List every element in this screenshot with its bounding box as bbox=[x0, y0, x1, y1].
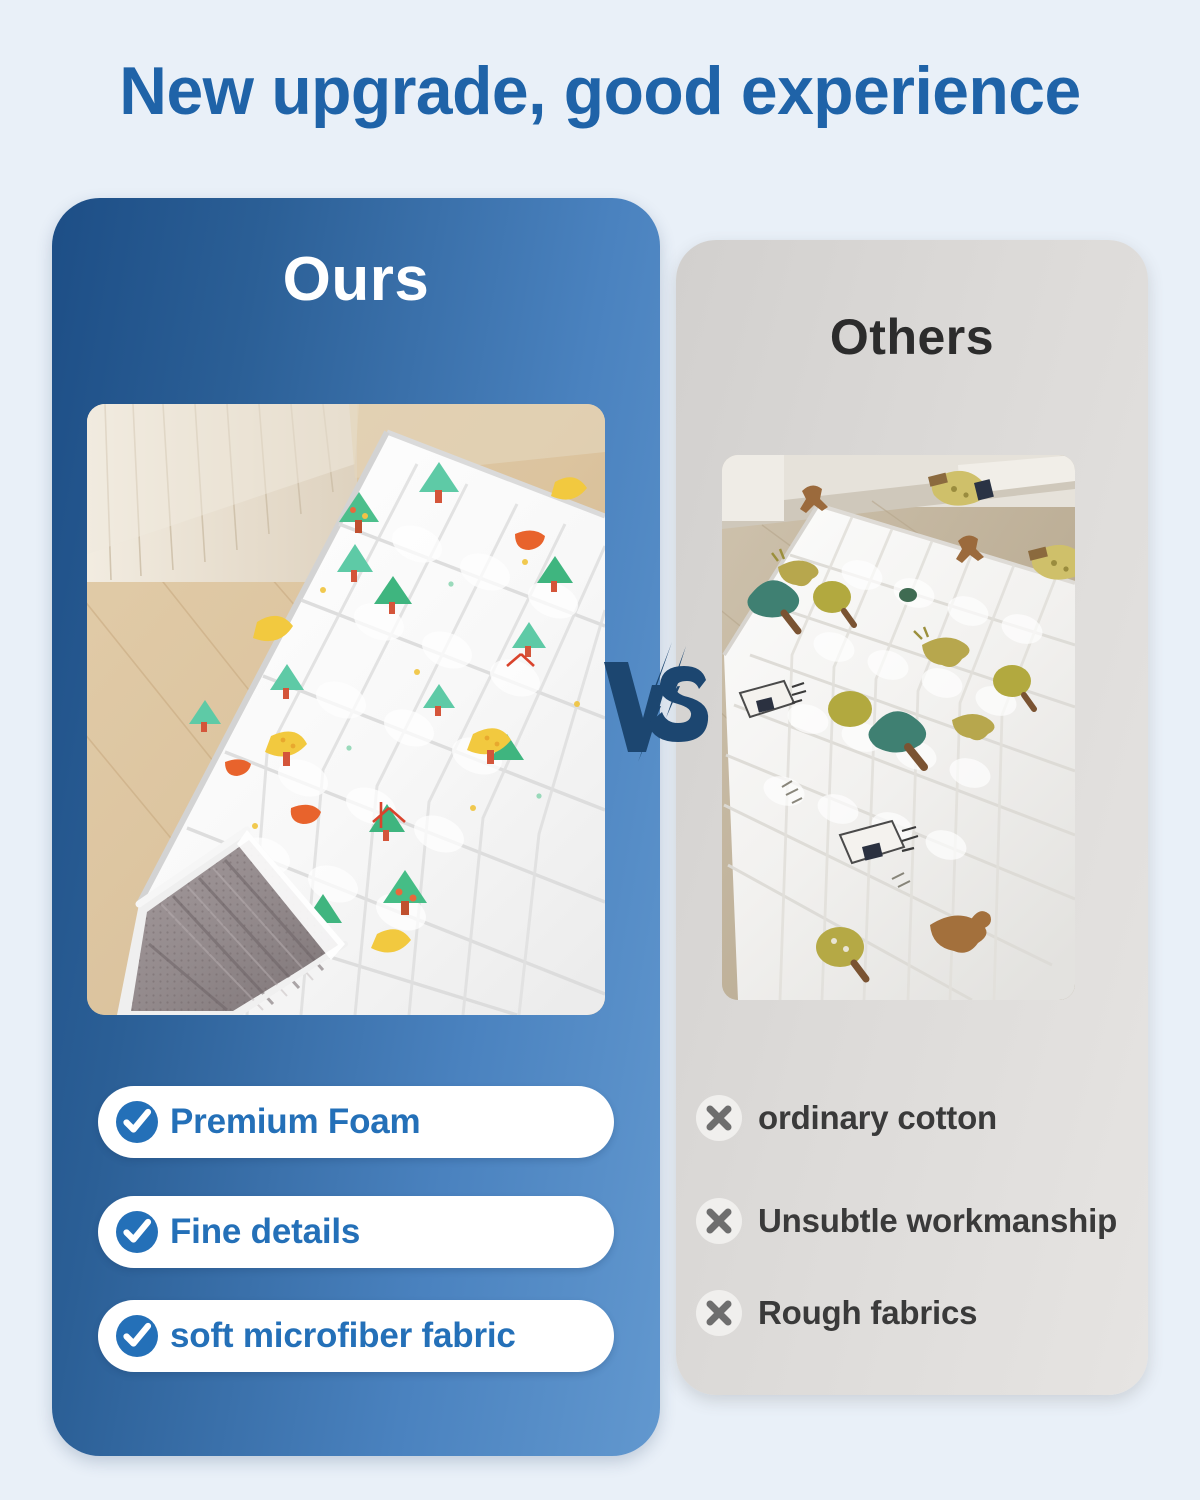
check-circle-icon bbox=[114, 1313, 160, 1359]
drawback-row-ordinary-cotton: ordinary cotton bbox=[694, 1093, 997, 1143]
x-circle-icon bbox=[694, 1093, 744, 1143]
drawback-label: ordinary cotton bbox=[758, 1099, 997, 1137]
x-circle-icon bbox=[694, 1288, 744, 1338]
feature-pill-fine-details[interactable]: Fine details bbox=[98, 1196, 614, 1268]
drawback-row-unsubtle-workmanship: Unsubtle workmanship bbox=[694, 1196, 1117, 1246]
others-heading: Others bbox=[676, 308, 1148, 366]
drawback-label: Unsubtle workmanship bbox=[758, 1202, 1117, 1240]
ours-heading: Ours bbox=[52, 244, 660, 315]
feature-pill-soft-microfiber-fabric[interactable]: soft microfiber fabric bbox=[98, 1300, 614, 1372]
product-photo-ours bbox=[87, 404, 605, 1015]
versus-lightning-icon bbox=[602, 640, 712, 765]
feature-label: soft microfiber fabric bbox=[170, 1316, 516, 1356]
check-circle-icon bbox=[114, 1209, 160, 1255]
feature-label: Premium Foam bbox=[170, 1102, 420, 1142]
x-circle-icon bbox=[694, 1196, 744, 1246]
check-circle-icon bbox=[114, 1099, 160, 1145]
product-photo-others bbox=[722, 455, 1075, 1000]
feature-label: Fine details bbox=[170, 1212, 360, 1252]
page-title: New upgrade, good experience bbox=[18, 52, 1182, 130]
drawback-row-rough-fabrics: Rough fabrics bbox=[694, 1288, 977, 1338]
drawback-label: Rough fabrics bbox=[758, 1294, 977, 1332]
feature-pill-premium-foam[interactable]: Premium Foam bbox=[98, 1086, 614, 1158]
